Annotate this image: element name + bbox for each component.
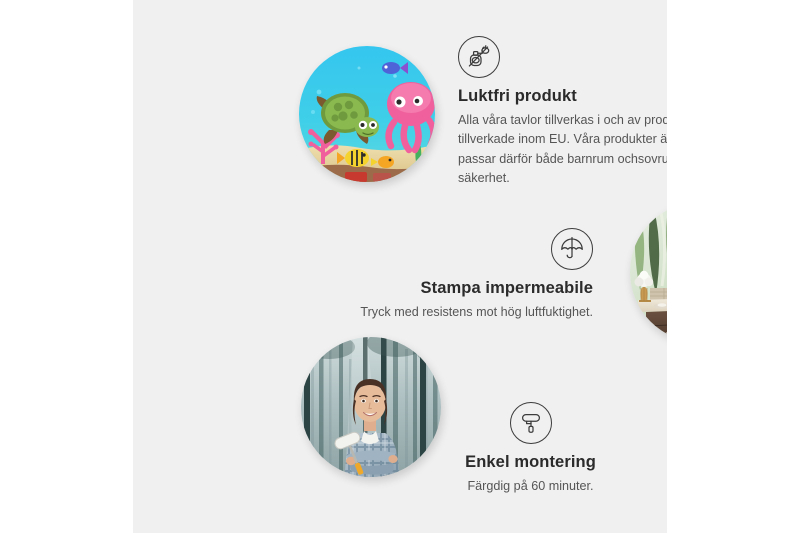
content-panel: Luktfri produkt Alla våra tavlor tillver… bbox=[133, 0, 667, 533]
photo-woman-with-paint-roller bbox=[301, 337, 441, 477]
feature-title: Enkel montering bbox=[448, 453, 613, 473]
feature-block-waterproof: Stampa impermeabile Tryck med resistens … bbox=[333, 228, 593, 322]
woman-painter-photo bbox=[301, 337, 441, 477]
screenshot-root: Luktfri produkt Alla våra tavlor tillver… bbox=[0, 0, 800, 533]
feature-block-easy-assembly: Enkel montering Färgdig på 60 minuter. bbox=[448, 402, 613, 496]
feature-block-odourless: Luktfri produkt Alla våra tavlor tillver… bbox=[458, 36, 667, 189]
feature-description: Alla våra tavlor tillverkas i och av pro… bbox=[458, 111, 667, 189]
umbrella-icon bbox=[551, 228, 593, 270]
bathroom-interior-photo bbox=[630, 202, 667, 342]
feature-description: Färgdig på 60 minuter. bbox=[448, 477, 613, 497]
feature-title: Luktfri produkt bbox=[458, 87, 667, 107]
no-fragrance-icon bbox=[458, 36, 500, 78]
feature-title: Stampa impermeabile bbox=[333, 279, 593, 299]
paint-roller-icon bbox=[510, 402, 552, 444]
underwater-scene-illustration bbox=[299, 46, 435, 182]
feature-description: Tryck med resistens mot hög luftfuktighe… bbox=[333, 303, 593, 323]
photo-bathroom-tropical-wallpaper bbox=[630, 202, 667, 342]
photo-underwater-kids-scene bbox=[299, 46, 435, 182]
